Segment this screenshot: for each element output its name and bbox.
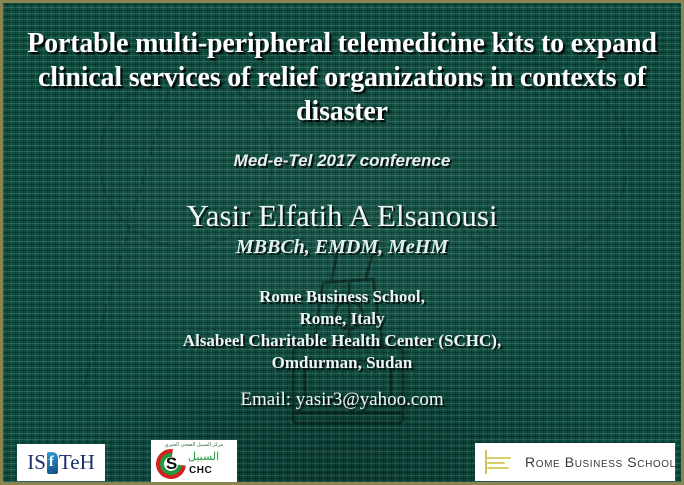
conference-subtitle: Med-e-Tel 2017 conference: [3, 151, 681, 171]
affiliation-line: Rome Business School,: [3, 286, 681, 308]
contact-email: Email: yasir3@yahoo.com: [3, 389, 681, 411]
author-name: Yasir Elfatih A Elsanousi: [3, 198, 681, 234]
affiliation-line: Rome, Italy: [3, 308, 681, 330]
schc-crescent-icon: S: [156, 449, 186, 479]
schc-logo-arabic-top: مركز السبيل الصحي الخيري: [155, 442, 233, 448]
author-credentials: MBBCh, EMDM, MeHM: [3, 236, 681, 259]
page-title: Portable multi-peripheral telemedicine k…: [3, 27, 681, 129]
presentation-title-slide: Portable multi-peripheral telemedicine k…: [0, 0, 684, 485]
rome-business-school-emblem-icon: [481, 447, 515, 477]
schc-logo-abbrev: CHC: [189, 465, 212, 476]
affiliation-line: Omdurman, Sudan: [3, 352, 681, 374]
schc-logo-center-letter: S: [163, 453, 180, 475]
rome-business-school-logo-text: Rome Business School: [525, 454, 676, 470]
isfteh-logo-text-left: IS: [27, 452, 46, 473]
affiliations: Rome Business School, Rome, Italy Alsabe…: [3, 286, 681, 374]
isfteh-logo: IS f TeH: [17, 444, 105, 481]
rome-business-school-logo: Rome Business School: [475, 443, 675, 481]
isfteh-logo-mark-letter: f: [49, 455, 54, 470]
affiliation-line: Alsabeel Charitable Health Center (SCHC)…: [3, 330, 681, 352]
isfteh-logo-text-right: TeH: [59, 452, 95, 473]
isfteh-logo-mark-icon: f: [46, 451, 59, 475]
schc-logo-arabic-side: السبيل: [188, 450, 219, 463]
schc-logo: مركز السبيل الصحي الخيري S السبيل CHC: [151, 440, 237, 484]
